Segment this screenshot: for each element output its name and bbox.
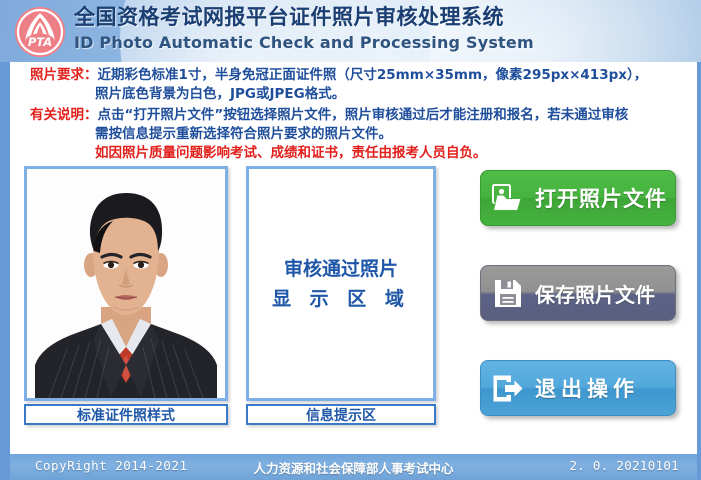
- exit-arrow-icon: [481, 373, 535, 404]
- notes-text-2: 需按信息提示重新选择符合照片要求的照片文件。: [95, 125, 392, 144]
- open-photo-file-label: 打开照片文件: [535, 183, 675, 213]
- info-message-area: 信息提示区: [246, 404, 436, 425]
- header-title-block: 全国资格考试网报平台证件照片审核处理系统 ID Photo Automatic …: [74, 3, 534, 55]
- footer-divider: [10, 452, 697, 454]
- requirement-text-1: 近期彩色标准1寸，半身免冠正面证件照（尺寸25mm×35mm，像素295px×4…: [98, 66, 648, 85]
- app-window: PTA 全国资格考试网报平台证件照片审核处理系统 ID Photo Automa…: [0, 0, 701, 480]
- window-left-border: [0, 0, 10, 480]
- notes-label: 有关说明：: [30, 106, 98, 125]
- pta-logo-text: PTA: [28, 35, 52, 49]
- app-title-cn: 全国资格考试网报平台证件照片审核处理系统: [74, 3, 534, 31]
- requirement-line-1: 照片要求： 近期彩色标准1寸，半身免冠正面证件照（尺寸25mm×35mm，像素2…: [30, 66, 647, 85]
- notes-line-1: 有关说明： 点击“打开照片文件”按钮选择照片文件，照片审核通过后才能注册和报名，…: [30, 106, 628, 125]
- exit-button-label: 退出操作: [535, 373, 675, 403]
- footer-version: 2. 0. 20210101: [569, 458, 679, 473]
- sample-photo-panel: [24, 166, 228, 401]
- save-photo-file-label: 保存照片文件: [535, 279, 675, 308]
- save-photo-file-button[interactable]: 保存照片文件: [480, 265, 676, 321]
- notes-text-1: 点击“打开照片文件”按钮选择照片文件，照片审核通过后才能注册和报名，若未通过审核: [98, 106, 629, 125]
- pta-emblem-icon: PTA: [14, 6, 66, 58]
- floppy-disk-save-icon: [481, 278, 535, 309]
- sample-photo-caption: 标准证件照样式: [24, 404, 228, 425]
- requirement-label: 照片要求：: [30, 66, 98, 85]
- approved-photo-display-area[interactable]: 审核通过照片 显 示 区 域: [246, 166, 436, 401]
- requirement-text-2: 照片底色背景为白色，JPG或JPEG格式。: [95, 85, 345, 104]
- requirement-line-2: 照片底色背景为白色，JPG或JPEG格式。: [95, 85, 345, 104]
- window-right-border: [697, 0, 701, 480]
- instructions-block: 照片要求： 近期彩色标准1寸，半身免冠正面证件照（尺寸25mm×35mm，像素2…: [10, 62, 697, 160]
- app-title-en: ID Photo Automatic Check and Processing …: [74, 31, 534, 55]
- open-photo-file-button[interactable]: 打开照片文件: [480, 170, 676, 226]
- sample-portrait-image: [27, 169, 225, 398]
- exit-button[interactable]: 退出操作: [480, 360, 676, 416]
- main-content: 标准证件照样式 审核通过照片 显 示 区 域 信息提示区 打开照片文件: [10, 160, 697, 450]
- open-photo-folder-icon: [481, 182, 535, 214]
- app-header: PTA 全国资格考试网报平台证件照片审核处理系统 ID Photo Automa…: [0, 0, 701, 62]
- approved-photo-placeholder-text: 审核通过照片 显 示 区 域: [249, 169, 433, 398]
- app-footer: CopyRight 2014-2021 人力资源和社会保障部人事考试中心 2. …: [10, 452, 697, 480]
- notes-line-2: 需按信息提示重新选择符合照片要求的照片文件。: [95, 125, 392, 144]
- placeholder-line-1: 审核通过照片: [284, 254, 398, 284]
- placeholder-line-2: 显 示 区 域: [272, 284, 410, 314]
